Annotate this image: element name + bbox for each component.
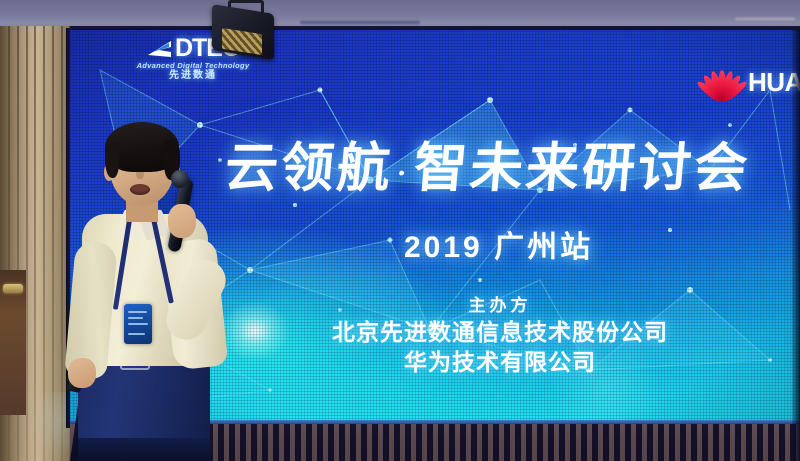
dtec-chinese-name: 先进数通	[118, 71, 268, 81]
dtec-mark-icon	[147, 39, 173, 59]
organizer-name-1: 北京先进数通信息技术股份公司	[300, 318, 700, 348]
ceiling-seam	[300, 21, 420, 24]
speaker-person	[64, 108, 264, 461]
conference-photo: DTEC Advanced Digital Technology 先进数通 HU…	[0, 0, 800, 461]
huawei-flower-icon	[700, 62, 744, 102]
slide-title-part2: 智未来研讨会	[411, 140, 752, 198]
mouth	[130, 184, 150, 195]
hair-left-side	[105, 142, 119, 178]
slide-title-separator: ·	[391, 157, 415, 190]
right-wall-edge	[792, 30, 800, 461]
organizer-label: 主办方	[300, 294, 700, 318]
right-hand	[168, 204, 196, 238]
dtec-tagline: Advanced Digital Technology	[118, 62, 268, 70]
lower-legs	[78, 438, 210, 461]
stage-spotlight-icon	[204, 0, 284, 62]
door-handle-icon[interactable]	[3, 284, 23, 293]
huawei-logo: HUA	[700, 62, 800, 102]
slide-subtitle: 2019 广州站	[404, 222, 593, 266]
name-badge	[124, 304, 152, 344]
ceiling-seam-right	[735, 18, 795, 20]
left-hand	[68, 358, 96, 388]
organizer-block: 主办方 北京先进数通信息技术股份公司 华为技术有限公司	[300, 294, 700, 378]
slide-title: 云领航·智未来研讨会	[222, 133, 783, 205]
organizer-name-2: 华为技术有限公司	[300, 348, 700, 378]
